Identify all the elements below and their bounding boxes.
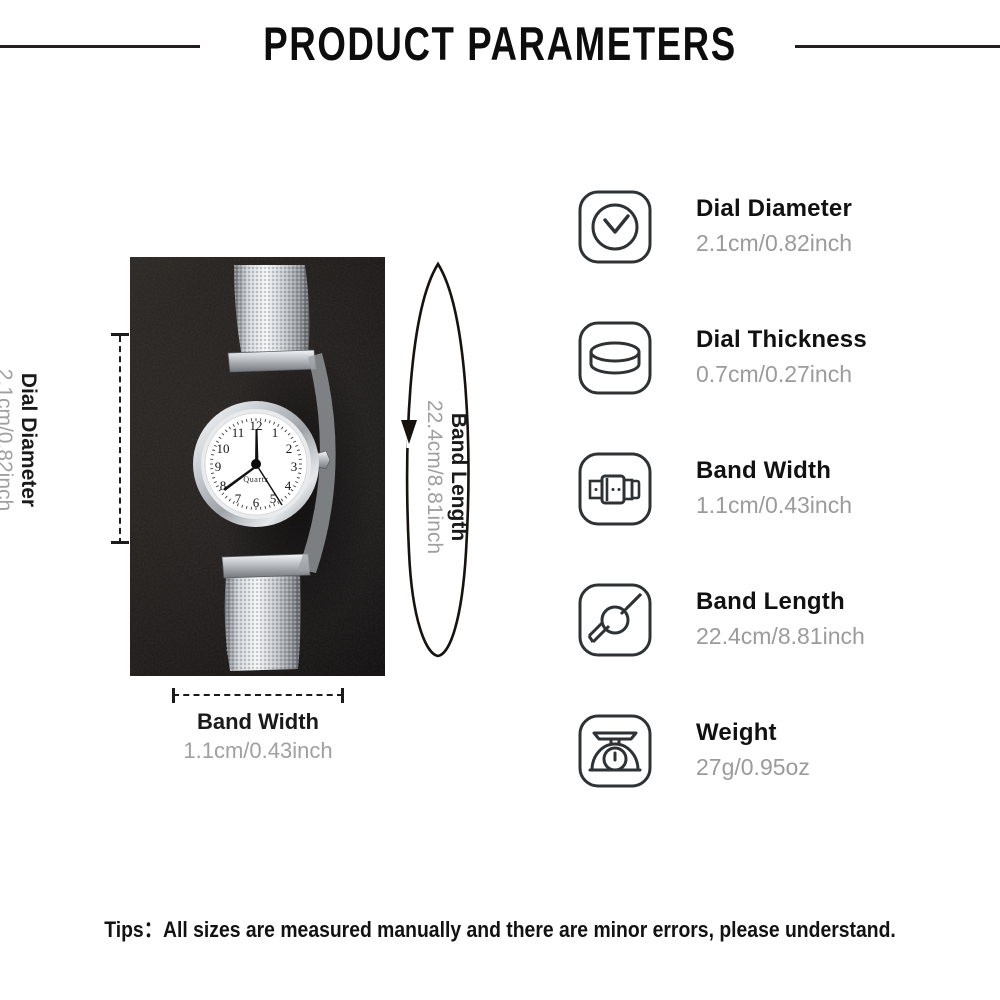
spec-row-band-length: Band Length 22.4cm/8.81inch <box>576 581 976 712</box>
dimension-cap-bottom <box>111 541 129 544</box>
page-title: PRODUCT PARAMETERS <box>110 16 890 71</box>
band-length-callout: Band Length 22.4cm/8.81inch <box>422 352 470 602</box>
spec-label: Dial Diameter <box>696 194 852 224</box>
spec-text-band-width: Band Width 1.1cm/0.43inch <box>696 456 852 522</box>
dial-diameter-callout: Dial Diameter 2.1cm/0.82inch <box>0 333 40 547</box>
spec-value: 2.1cm/0.82inch <box>696 227 852 260</box>
spec-text-dial-diameter: Dial Diameter 2.1cm/0.82inch <box>696 194 852 260</box>
watch-strap-diagonal-icon <box>576 581 654 659</box>
band-width-callout-label: Band Width <box>148 708 368 737</box>
spec-row-dial-diameter: Dial Diameter 2.1cm/0.82inch <box>576 188 976 319</box>
page-header: PRODUCT PARAMETERS <box>0 0 1000 100</box>
svg-text:6: 6 <box>253 495 260 510</box>
dimension-cap-top <box>111 333 129 336</box>
disc-thickness-icon <box>576 319 654 397</box>
svg-text:2: 2 <box>286 441 293 456</box>
spec-row-band-width: Band Width 1.1cm/0.43inch <box>576 450 976 581</box>
spec-list: Dial Diameter 2.1cm/0.82inch Dial Thickn… <box>576 188 976 843</box>
spec-value: 0.7cm/0.27inch <box>696 358 867 391</box>
spec-label: Band Width <box>696 456 852 486</box>
spec-row-dial-thickness: Dial Thickness 0.7cm/0.27inch <box>576 319 976 450</box>
band-width-dimension-line <box>168 688 348 704</box>
svg-text:4: 4 <box>285 478 292 493</box>
spec-row-weight: Weight 27g/0.95oz <box>576 712 976 843</box>
spec-text-dial-thickness: Dial Thickness 0.7cm/0.27inch <box>696 325 867 391</box>
footer-tip: Tips：All sizes are measured manually and… <box>60 912 940 944</box>
product-photo-block: 12 1 2 3 4 5 6 7 8 9 10 11 Quartz <box>130 257 385 676</box>
svg-text:1: 1 <box>272 425 279 440</box>
band-width-callout: Band Width 1.1cm/0.43inch <box>148 708 368 765</box>
spec-value: 22.4cm/8.81inch <box>696 620 865 653</box>
dimension-dashed-line <box>119 336 121 544</box>
watch-illustration: 12 1 2 3 4 5 6 7 8 9 10 11 Quartz <box>130 257 385 676</box>
band-length-callout-value: 22.4cm/8.81inch <box>422 400 446 554</box>
spec-label: Dial Thickness <box>696 325 867 355</box>
dimension-cap-right <box>341 688 344 703</box>
band-width-callout-value: 1.1cm/0.43inch <box>148 737 368 766</box>
product-photo: 12 1 2 3 4 5 6 7 8 9 10 11 Quartz <box>130 257 385 676</box>
dimension-cap-left <box>172 688 175 703</box>
watch-dial-icon <box>576 188 654 266</box>
dial-diameter-dimension-line <box>108 330 132 550</box>
dial-diameter-callout-value: 2.1cm/0.82inch <box>0 369 16 511</box>
svg-text:10: 10 <box>217 441 230 456</box>
svg-text:3: 3 <box>291 459 298 474</box>
spec-text-band-length: Band Length 22.4cm/8.81inch <box>696 587 865 653</box>
belt-buckle-icon <box>576 450 654 528</box>
spec-label: Band Length <box>696 587 865 617</box>
spec-value: 27g/0.95oz <box>696 751 810 784</box>
dial-diameter-callout-label: Dial Diameter <box>16 373 40 507</box>
spec-label: Weight <box>696 718 810 748</box>
dimension-dashed-line <box>173 694 343 696</box>
spec-value: 1.1cm/0.43inch <box>696 489 852 522</box>
band-length-callout-label: Band Length <box>446 413 470 541</box>
svg-text:7: 7 <box>235 491 242 506</box>
svg-text:9: 9 <box>215 459 222 474</box>
kitchen-scale-icon <box>576 712 654 790</box>
svg-text:11: 11 <box>232 425 245 440</box>
svg-text:Quartz: Quartz <box>243 475 268 484</box>
spec-text-weight: Weight 27g/0.95oz <box>696 718 810 784</box>
